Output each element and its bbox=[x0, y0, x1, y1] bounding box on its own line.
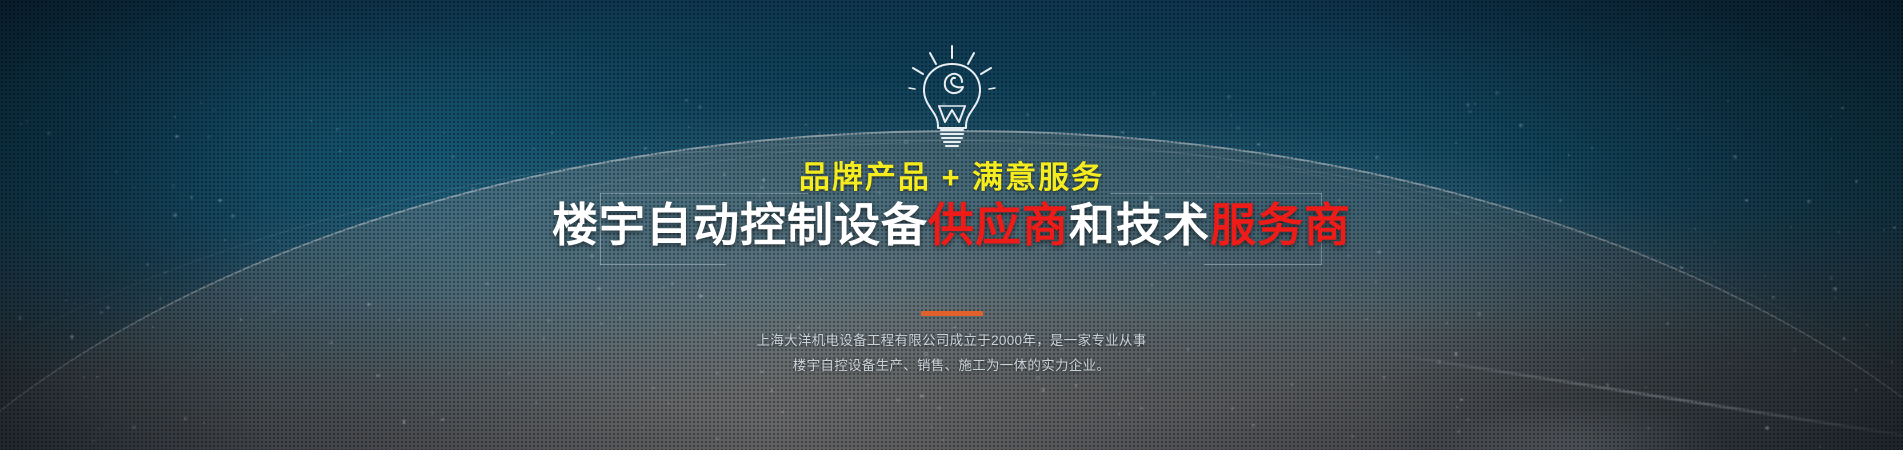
frame-line-bottom-left bbox=[600, 264, 726, 265]
lightbulb-idea-icon bbox=[905, 44, 999, 148]
banner-headline: 楼宇自动控制设备供应商和技术服务商 bbox=[0, 200, 1903, 252]
description-line-1: 上海大洋机电设备工程有限公司成立于2000年，是一家专业从事 bbox=[0, 329, 1903, 354]
headline-part-3: 和技术 bbox=[1069, 199, 1210, 251]
frame-line-top-right bbox=[1110, 193, 1322, 194]
hero-banner: 品牌产品 + 满意服务 楼宇自动控制设备供应商和技术服务商 上海大洋机电设备工程… bbox=[0, 0, 1903, 450]
frame-line-top-left bbox=[600, 193, 808, 194]
banner-description: 上海大洋机电设备工程有限公司成立于2000年，是一家专业从事 楼宇自控设备生产、… bbox=[0, 329, 1903, 379]
headline-part-1: 楼宇自动控制设备 bbox=[552, 199, 928, 251]
orange-divider bbox=[921, 311, 983, 316]
headline-highlight-supplier: 供应商 bbox=[928, 199, 1069, 251]
headline-highlight-service: 服务商 bbox=[1210, 199, 1351, 251]
banner-tagline: 品牌产品 + 满意服务 bbox=[0, 162, 1903, 193]
frame-line-bottom-right bbox=[1204, 264, 1322, 265]
description-line-2: 楼宇自控设备生产、销售、施工为一体的实力企业。 bbox=[0, 354, 1903, 379]
banner-content: 品牌产品 + 满意服务 楼宇自动控制设备供应商和技术服务商 上海大洋机电设备工程… bbox=[0, 0, 1903, 450]
